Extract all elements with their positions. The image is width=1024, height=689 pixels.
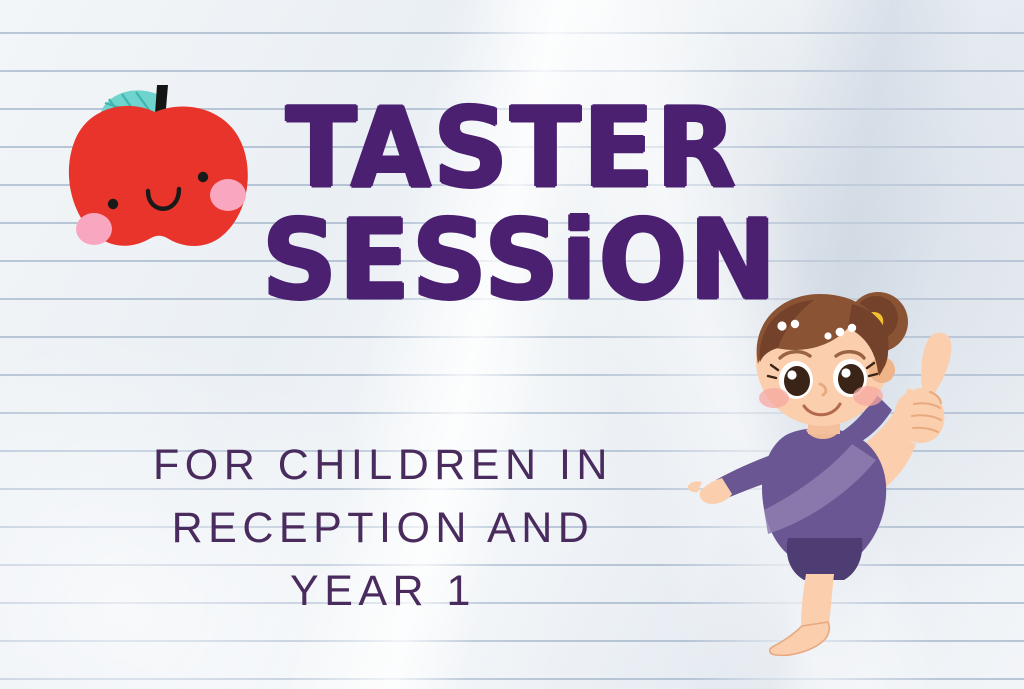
girl-illustration	[700, 282, 965, 652]
girl-blush-right-icon	[853, 386, 883, 406]
title-line-1: TASTER	[286, 83, 738, 212]
apple-illustration	[52, 52, 262, 272]
subtitle-line-2: RECEPTION AND	[78, 497, 688, 560]
apple-eye-left-icon	[108, 199, 118, 209]
headline-block: TASTER SESSiON	[262, 96, 762, 302]
subtitle-block: FOR CHILDREN IN RECEPTION AND YEAR 1	[78, 434, 688, 624]
girl-blush-left-icon	[759, 388, 789, 408]
apple-blush-left-icon	[76, 213, 112, 245]
page-subtitle: FOR CHILDREN IN RECEPTION AND YEAR 1	[78, 434, 688, 624]
subtitle-line-1: FOR CHILDREN IN	[78, 434, 688, 497]
girl-leotard	[762, 426, 886, 581]
title-line-2: SESSiON	[262, 208, 762, 314]
apple-blush-right-icon	[210, 179, 246, 211]
girl-standing-leg	[770, 574, 834, 655]
page-title: TASTER SESSiON	[262, 96, 762, 314]
subtitle-line-3: YEAR 1	[78, 560, 688, 623]
poster-canvas: TASTER SESSiON FOR CHILDREN IN RECEPTION…	[0, 0, 1024, 689]
apple-eye-right-icon	[198, 172, 208, 182]
